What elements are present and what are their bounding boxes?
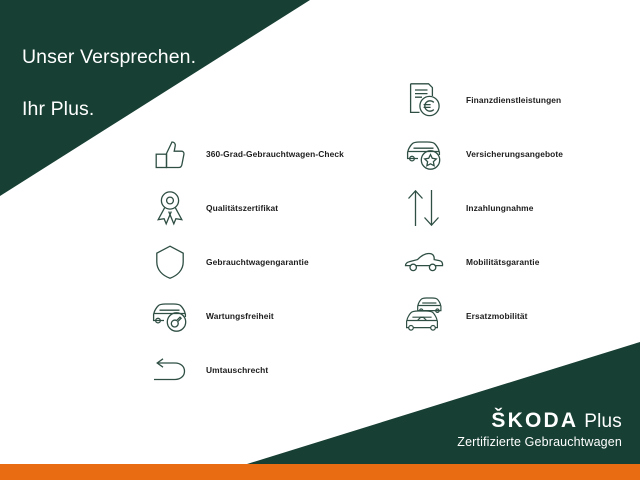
feature-label: Wartungsfreiheit [206,311,274,321]
feature-item-trade-in: Inzahlungnahme [402,182,563,234]
feature-label: Qualitätszertifikat [206,203,278,213]
logo-wordmark-row: ŠKODA Plus [457,410,622,431]
feature-label: 360-Grad-Gebrauchtwagen-Check [206,149,344,159]
logo-suffix-text: Plus [584,412,622,431]
headline-line-1: Unser Versprechen. [22,44,196,70]
feature-item-mobility-guarantee: Mobilitätsgarantie [402,236,563,288]
thumbs-up-icon [148,132,192,176]
promo-slide: Unser Versprechen. Ihr Plus. 360-Grad-Ge… [0,0,640,480]
feature-item-quality-certificate: Qualitätszertifikat [148,182,344,234]
feature-list-left: 360-Grad-Gebrauchtwagen-Check Qualitätsz… [148,128,344,398]
car-wrench-icon [148,294,192,338]
feature-item-360-check: 360-Grad-Gebrauchtwagen-Check [148,128,344,180]
return-arrow-icon [148,348,192,392]
two-cars-icon [402,294,446,338]
feature-item-warranty: Gebrauchtwagengarantie [148,236,344,288]
feature-item-insurance-offers: Versicherungsangebote [402,128,563,180]
car-star-icon [402,132,446,176]
award-rosette-icon [148,186,192,230]
feature-label: Inzahlungnahme [466,203,533,213]
document-euro-icon [402,78,446,122]
feature-label: Umtauschrecht [206,365,268,375]
feature-label: Ersatzmobilität [466,311,528,321]
up-down-arrows-icon [402,186,446,230]
feature-label: Gebrauchtwagengarantie [206,257,309,267]
feature-item-financial-services: Finanzdienstleistungen [402,74,563,126]
headline-line-2: Ihr Plus. [22,96,196,122]
feature-item-maintenance-free: Wartungsfreiheit [148,290,344,342]
logo-subtitle: Zertifizierte Gebrauchtwagen [457,436,622,449]
feature-item-exchange-right: Umtauschrecht [148,344,344,396]
feature-list-right: Finanzdienstleistungen Versicherungsange… [402,74,563,344]
orange-bottom-bar [0,464,640,480]
feature-item-replacement-mobility: Ersatzmobilität [402,290,563,342]
car-side-icon [402,240,446,284]
logo-brand-text: ŠKODA [491,410,578,431]
skoda-plus-logo: ŠKODA Plus Zertifizierte Gebrauchtwagen [457,410,622,449]
feature-label: Versicherungsangebote [466,149,563,159]
shield-icon [148,240,192,284]
feature-label: Finanzdienstleistungen [466,95,561,105]
feature-label: Mobilitätsgarantie [466,257,539,267]
